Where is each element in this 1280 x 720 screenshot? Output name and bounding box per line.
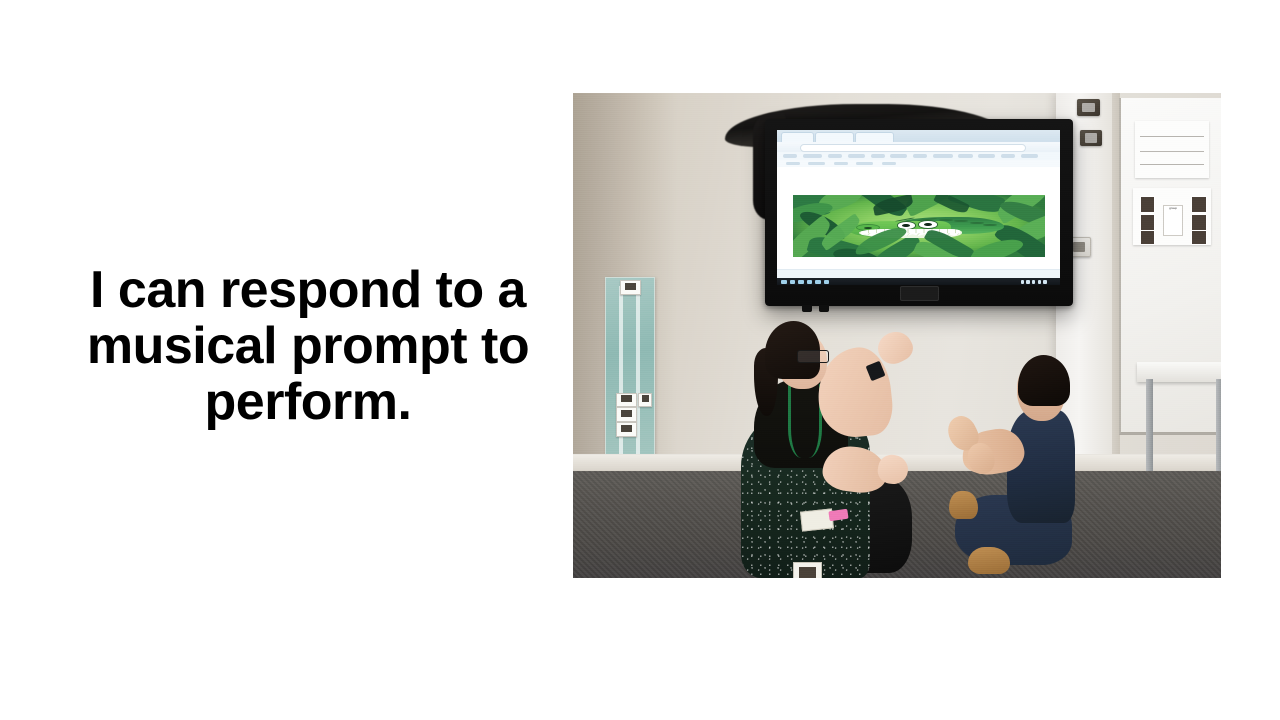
browser-page-content — [777, 167, 1060, 270]
tray-icon[interactable] — [1026, 280, 1029, 284]
slide-canvas: I can respond to a musical prompt to per… — [0, 0, 1280, 720]
taskbar-app-icon[interactable] — [824, 280, 830, 285]
whiteboard-group-sheet: group — [1133, 188, 1210, 245]
tray-clock[interactable] — [1043, 280, 1046, 284]
group-symbol-card: group — [1163, 205, 1184, 235]
display-mount-foot — [819, 305, 829, 311]
teacher-figure — [729, 316, 943, 578]
table-leg — [1216, 379, 1221, 471]
taskbar-search-icon[interactable] — [790, 280, 796, 285]
display-brand-logo — [900, 286, 939, 301]
timetable-card — [638, 393, 652, 408]
whiteboard-chart-sheet — [1135, 121, 1208, 178]
classroom-whiteboard: group — [1119, 98, 1221, 436]
interactive-display[interactable] — [765, 119, 1073, 306]
tray-icon[interactable] — [1038, 280, 1041, 284]
student-shoe — [949, 491, 978, 519]
power-socket — [1080, 130, 1102, 146]
taskbar-start-icon[interactable] — [781, 280, 787, 285]
tray-icon[interactable] — [1021, 280, 1024, 284]
timetable-card — [616, 407, 637, 422]
floor-pecs-card — [793, 562, 823, 578]
display-mount-foot — [802, 305, 812, 311]
power-socket — [1077, 99, 1100, 116]
timetable-card — [616, 422, 637, 437]
url-input[interactable] — [800, 144, 1027, 152]
taskbar-app-icon[interactable] — [807, 280, 813, 285]
student-hair — [1018, 355, 1070, 405]
jungle-crocodile-image — [793, 195, 1045, 257]
student-figure — [946, 360, 1108, 578]
windows-taskbar[interactable] — [777, 278, 1060, 285]
table-leg — [1146, 379, 1153, 471]
taskbar-app-icon[interactable] — [815, 280, 821, 285]
timetable-card — [616, 393, 637, 408]
tray-icon[interactable] — [1032, 280, 1035, 284]
teacher-lanyard — [788, 384, 822, 457]
display-screen[interactable] — [777, 130, 1060, 285]
crocodile-eye — [918, 220, 937, 229]
teacher-glasses — [797, 350, 829, 362]
browser-status-bar — [777, 269, 1060, 279]
learning-objective-text: I can respond to a musical prompt to per… — [48, 262, 568, 430]
taskbar-app-icon[interactable] — [798, 280, 804, 285]
classroom-photo: group — [573, 93, 1221, 578]
visual-timetable-strip — [605, 277, 655, 463]
timetable-card — [620, 280, 641, 295]
student-shoe — [968, 547, 1010, 573]
